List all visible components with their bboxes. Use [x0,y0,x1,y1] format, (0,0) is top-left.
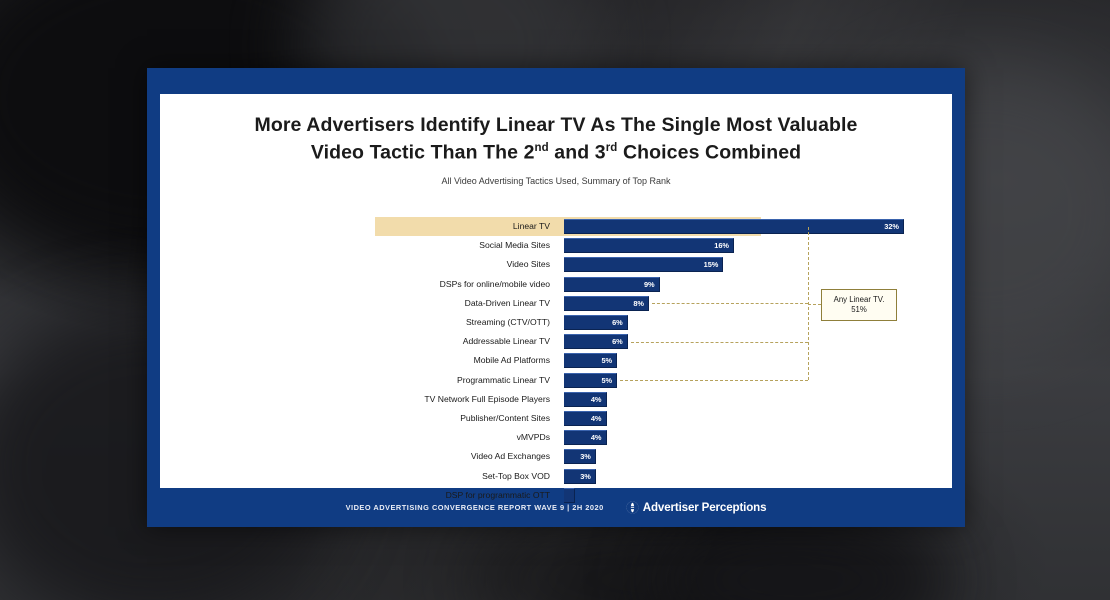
globe-icon [626,501,639,514]
category-label: Data-Driven Linear TV [375,294,557,313]
bar-container: 9% [564,277,660,292]
bar: 3% [564,469,596,484]
bar-value-label: 6% [612,335,623,349]
bar-value-label: 32% [884,220,899,234]
bar: 4% [564,411,607,426]
bar: 3% [564,449,596,464]
category-label: vMVPDs [375,428,557,447]
bar-row-addressable-linear-tv: Addressable Linear TV6% [160,332,952,351]
category-label: Linear TV [375,217,557,236]
category-label: Video Sites [375,255,557,274]
bar-chart: Linear TV32%Social Media Sites16%Video S… [160,94,952,488]
bar-container: 3% [564,469,596,484]
bar-row-video-ad-exchanges: Video Ad Exchanges3% [160,447,952,466]
bar-value-label: 5% [601,374,612,388]
bar-value-label: 4% [591,431,602,445]
bar: 5% [564,373,617,388]
category-label: Set-Top Box VOD [375,467,557,486]
bar: 6% [564,315,628,330]
bar: 32% [564,219,904,234]
category-label: Mobile Ad Platforms [375,351,557,370]
bar-row-publisher-content-sites: Publisher/Content Sites4% [160,409,952,428]
bar-row-vmvpds: vMVPDs4% [160,428,952,447]
bar-container: 6% [564,315,628,330]
bar-container: 5% [564,373,617,388]
bar-container: 4% [564,430,607,445]
bar: 15% [564,257,723,272]
bar-value-label: 6% [612,316,623,330]
slide-content-panel: More Advertisers Identify Linear TV As T… [160,94,952,488]
bar: 16% [564,238,734,253]
footer-report-line: VIDEO ADVERTISING CONVERGENCE REPORT WAV… [346,503,604,512]
bar: 5% [564,353,617,368]
callout-value: 51% [851,305,867,315]
bar-container: 6% [564,334,628,349]
bracket-connector-programmatic-linear-tv [620,380,808,381]
bar-row-set-top-box-vod: Set-Top Box VOD3% [160,467,952,486]
category-label: Publisher/Content Sites [375,409,557,428]
bracket-connector-data-driven-linear-tv [652,303,808,304]
bar-row-tv-network-full-episode-players: TV Network Full Episode Players4% [160,390,952,409]
bar-value-label: 3% [580,470,591,484]
screenshot-stage: More Advertisers Identify Linear TV As T… [0,0,1110,600]
bar-container: 8% [564,296,649,311]
category-label: Video Ad Exchanges [375,447,557,466]
category-label: Social Media Sites [375,236,557,255]
bar-container: 4% [564,392,607,407]
category-label: Programmatic Linear TV [375,371,557,390]
slide-footer: VIDEO ADVERTISING CONVERGENCE REPORT WAV… [160,488,952,527]
bar-value-label: 8% [633,297,644,311]
bar-row-mobile-ad-platforms: Mobile Ad Platforms5% [160,351,952,370]
bar-value-label: 9% [644,278,655,292]
slide-frame: More Advertisers Identify Linear TV As T… [147,68,965,527]
brand-name: Advertiser Perceptions [643,501,767,514]
bar-value-label: 4% [591,412,602,426]
category-label: TV Network Full Episode Players [375,390,557,409]
bar: 4% [564,430,607,445]
bracket-callout-connector [808,304,821,305]
bar-row-programmatic-linear-tv: Programmatic Linear TV5% [160,371,952,390]
bar-value-label: 16% [714,239,729,253]
callout-any-linear-tv: Any Linear TV. 51% [821,289,897,321]
bar-container: 5% [564,353,617,368]
bracket-connector-addressable-linear-tv [631,342,808,343]
bar-value-label: 3% [580,450,591,464]
bar: 8% [564,296,649,311]
bar-row-video-sites: Video Sites15% [160,255,952,274]
bar-value-label: 4% [591,393,602,407]
bar: 6% [564,334,628,349]
bar-value-label: 15% [704,258,719,272]
bar-value-label: 5% [601,354,612,368]
brand-lockup: Advertiser Perceptions [626,501,767,514]
bar-container: 32% [564,219,904,234]
bar-row-linear-tv: Linear TV32% [160,217,952,236]
callout-label: Any Linear TV. [834,295,885,305]
bar-container: 15% [564,257,723,272]
bar-container: 4% [564,411,607,426]
bar-row-social-media-sites: Social Media Sites16% [160,236,952,255]
bar-container: 3% [564,449,596,464]
bar-container: 16% [564,238,734,253]
bar: 4% [564,392,607,407]
bar: 9% [564,277,660,292]
category-label: Streaming (CTV/OTT) [375,313,557,332]
category-label: Addressable Linear TV [375,332,557,351]
category-label: DSPs for online/mobile video [375,275,557,294]
